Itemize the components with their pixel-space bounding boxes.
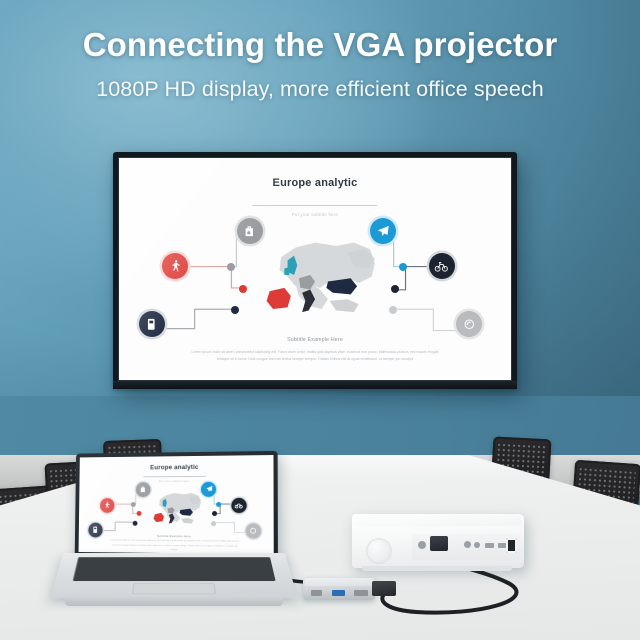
hub-body bbox=[303, 578, 375, 600]
hub-port-usb-a[interactable] bbox=[332, 590, 345, 596]
laptop-screen-glare bbox=[79, 455, 274, 554]
node-dot-bicycle bbox=[391, 285, 399, 293]
slide-footer-body: Lorem ipsum dolor sit amet, consectetur … bbox=[186, 349, 445, 363]
projector-feet bbox=[362, 566, 512, 571]
hub-top-shell bbox=[305, 578, 373, 586]
hub-port-hdmi[interactable] bbox=[354, 590, 368, 596]
laptop[interactable]: Europe analytic Put your subtitle here bbox=[63, 452, 285, 637]
page-subtitle: 1080P HD display, more efficient office … bbox=[0, 77, 640, 102]
laptop-trackpad[interactable] bbox=[132, 584, 215, 595]
port-usb bbox=[485, 543, 494, 548]
projector-top-cover bbox=[355, 514, 521, 526]
tv-bottom-bezel bbox=[113, 381, 517, 389]
hub-cable-plug bbox=[372, 581, 396, 596]
map-base bbox=[280, 243, 375, 313]
port-round-1 bbox=[418, 541, 426, 549]
slide-tv: Europe analytic Put your subtitle here bbox=[119, 158, 511, 380]
usb-c-hub[interactable] bbox=[303, 578, 375, 600]
projector-vga-connector[interactable] bbox=[430, 536, 448, 551]
vga-projector[interactable] bbox=[352, 508, 524, 584]
port-round-2 bbox=[464, 541, 471, 548]
node-dot-walking bbox=[239, 285, 247, 293]
laptop-keyboard[interactable] bbox=[72, 557, 276, 581]
projector-lens bbox=[366, 538, 392, 564]
node-bicycle[interactable] bbox=[429, 253, 455, 279]
port-round-3 bbox=[474, 542, 480, 548]
slide-footer-title: Subtitle Example Here bbox=[119, 337, 511, 343]
page-title: Connecting the VGA projector bbox=[0, 26, 640, 64]
projector-ports bbox=[412, 534, 520, 560]
laptop-keyboard-deck[interactable] bbox=[50, 553, 297, 598]
country-spain bbox=[267, 288, 291, 309]
node-briefcase[interactable] bbox=[237, 218, 263, 244]
mobile-device-icon bbox=[144, 317, 159, 332]
projector-body bbox=[352, 514, 524, 568]
laptop-screen: Europe analytic Put your subtitle here bbox=[79, 455, 274, 554]
bicycle-icon bbox=[434, 259, 449, 274]
header-block: Connecting the VGA projector 1080P HD di… bbox=[0, 26, 640, 102]
laptop-lid: Europe analytic Put your subtitle here bbox=[75, 451, 278, 562]
walking-person-icon bbox=[168, 259, 183, 274]
projector-power-switch[interactable] bbox=[506, 538, 517, 553]
scene-root: Connecting the VGA projector 1080P HD di… bbox=[0, 0, 640, 640]
camera-lens-icon bbox=[462, 317, 477, 332]
node-dot-device bbox=[231, 306, 239, 314]
wall-display[interactable]: Europe analytic Put your subtitle here bbox=[113, 152, 517, 389]
projector-port-panel bbox=[412, 534, 520, 560]
hub-port-usb-c[interactable] bbox=[311, 590, 322, 596]
laptop-base bbox=[65, 597, 283, 606]
node-navigate[interactable] bbox=[370, 218, 396, 244]
briefcase-lock-icon bbox=[242, 224, 257, 239]
node-device[interactable] bbox=[139, 311, 165, 337]
europe-map bbox=[252, 231, 381, 329]
paper-plane-icon bbox=[376, 224, 391, 239]
tv-screen: Europe analytic Put your subtitle here bbox=[118, 157, 512, 381]
